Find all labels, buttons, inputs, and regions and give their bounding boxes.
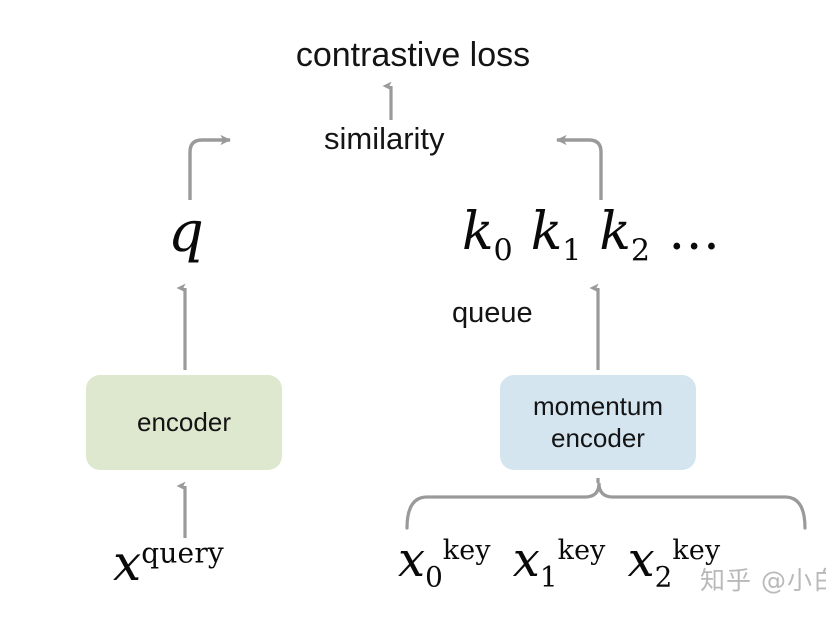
queue-label: queue xyxy=(452,299,533,328)
key-term-2: k2 xyxy=(599,202,650,262)
encoder-box[interactable]: encoder xyxy=(86,375,282,470)
key-subscript-1: 1 xyxy=(562,233,581,268)
key-input-1: x1key xyxy=(513,532,606,588)
key-input-0: x0key xyxy=(398,532,491,588)
momentum-encoder-box-label: momentumencoder xyxy=(533,391,663,454)
x-superscript-query: query xyxy=(141,536,224,569)
q-symbol: q xyxy=(168,200,204,265)
encoder-box-label: encoder xyxy=(137,407,231,439)
keys-ellipsis: … xyxy=(668,202,722,262)
key-representations-label: k0k1k2… xyxy=(462,206,722,267)
arrow-q-to-similarity xyxy=(190,140,230,200)
query-representation-label: q xyxy=(168,205,204,261)
key-term-0: k0 xyxy=(462,202,513,262)
key-subscript-2: 2 xyxy=(631,233,650,268)
watermark: 知乎 @小白 xyxy=(700,561,826,597)
brace-keys-inputs xyxy=(407,483,805,528)
query-input-label: xquery xyxy=(113,538,224,588)
similarity-label: similarity xyxy=(324,123,445,154)
key-subscript-0: 0 xyxy=(494,233,513,268)
arrow-keys-to-similarity xyxy=(557,140,601,200)
contrastive-loss-label: contrastive loss xyxy=(0,38,826,72)
x-base-query: x xyxy=(113,534,141,592)
key-inputs-label: x0keyx1keyx2key xyxy=(398,536,742,591)
key-term-1: k1 xyxy=(531,202,582,262)
momentum-encoder-box[interactable]: momentumencoder xyxy=(500,375,696,470)
